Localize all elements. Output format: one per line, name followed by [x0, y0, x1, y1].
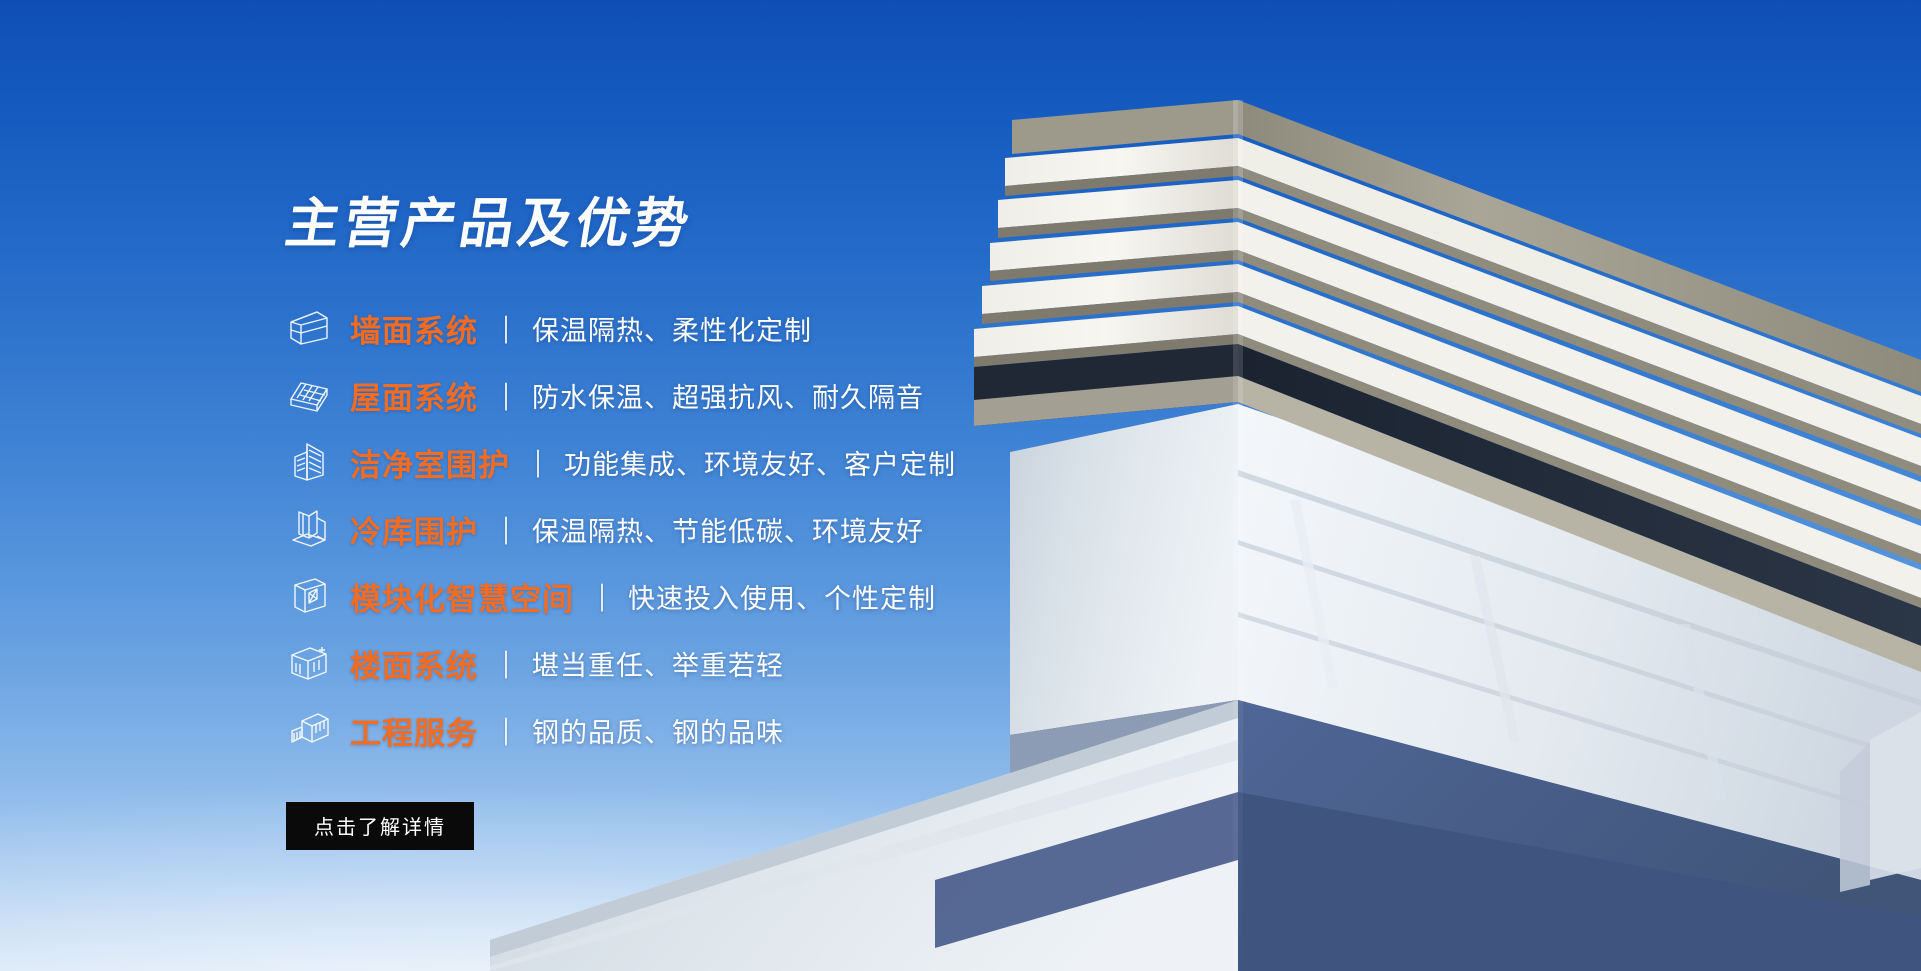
list-item[interactable]: 模块化智慧空间 丨 快速投入使用、个性定制 — [286, 563, 1186, 630]
modular-smart-space-icon — [286, 574, 332, 618]
product-name: 工程服务 — [350, 708, 478, 753]
product-name: 屋面系统 — [350, 373, 478, 418]
roof-system-icon — [286, 373, 332, 417]
product-description: 保温隔热、柔性化定制 — [532, 309, 812, 348]
separator: 丨 — [499, 508, 513, 549]
product-description: 堪当重任、举重若轻 — [532, 644, 784, 683]
product-description: 保温隔热、节能低碳、环境友好 — [532, 510, 924, 549]
product-list: 墙面系统 丨 保温隔热、柔性化定制 — [286, 295, 1186, 764]
list-item[interactable]: 楼面系统 丨 堪当重任、举重若轻 — [286, 630, 1186, 697]
page-title: 主营产品及优势 — [282, 196, 1191, 253]
list-item[interactable]: 工程服务 丨 钢的品质、钢的品味 — [286, 697, 1186, 764]
product-description: 防水保温、超强抗风、耐久隔音 — [532, 376, 924, 415]
separator: 丨 — [531, 441, 545, 482]
list-item[interactable]: 墙面系统 丨 保温隔热、柔性化定制 — [286, 295, 1186, 362]
hero-banner: 主营产品及优势 墙面系统 丨 保温隔热、柔性化定制 — [0, 0, 1921, 971]
product-name: 墙面系统 — [350, 306, 478, 351]
product-description: 快速投入使用、个性定制 — [628, 577, 936, 616]
learn-more-button[interactable]: 点击了解详情 — [286, 802, 474, 850]
list-item[interactable]: 洁净室围护 丨 功能集成、环境友好、客户定制 — [286, 429, 1186, 496]
list-item[interactable]: 冷库围护 丨 保温隔热、节能低碳、环境友好 — [286, 496, 1186, 563]
separator: 丨 — [499, 307, 513, 348]
separator: 丨 — [499, 642, 513, 683]
product-description: 功能集成、环境友好、客户定制 — [564, 443, 956, 482]
product-name: 冷库围护 — [350, 507, 478, 552]
separator: 丨 — [499, 709, 513, 750]
cold-storage-enclosure-icon — [286, 507, 332, 551]
list-item[interactable]: 屋面系统 丨 防水保温、超强抗风、耐久隔音 — [286, 362, 1186, 429]
product-description: 钢的品质、钢的品味 — [532, 711, 784, 750]
separator: 丨 — [499, 374, 513, 415]
product-name: 楼面系统 — [350, 641, 478, 686]
floor-system-icon — [286, 641, 332, 685]
separator: 丨 — [595, 575, 609, 616]
cleanroom-enclosure-icon — [286, 440, 332, 484]
wall-system-icon — [286, 306, 332, 350]
engineering-service-icon — [286, 708, 332, 752]
product-name: 模块化智慧空间 — [350, 574, 574, 619]
product-name: 洁净室围护 — [350, 440, 510, 485]
hero-content: 主营产品及优势 墙面系统 丨 保温隔热、柔性化定制 — [286, 196, 1186, 850]
